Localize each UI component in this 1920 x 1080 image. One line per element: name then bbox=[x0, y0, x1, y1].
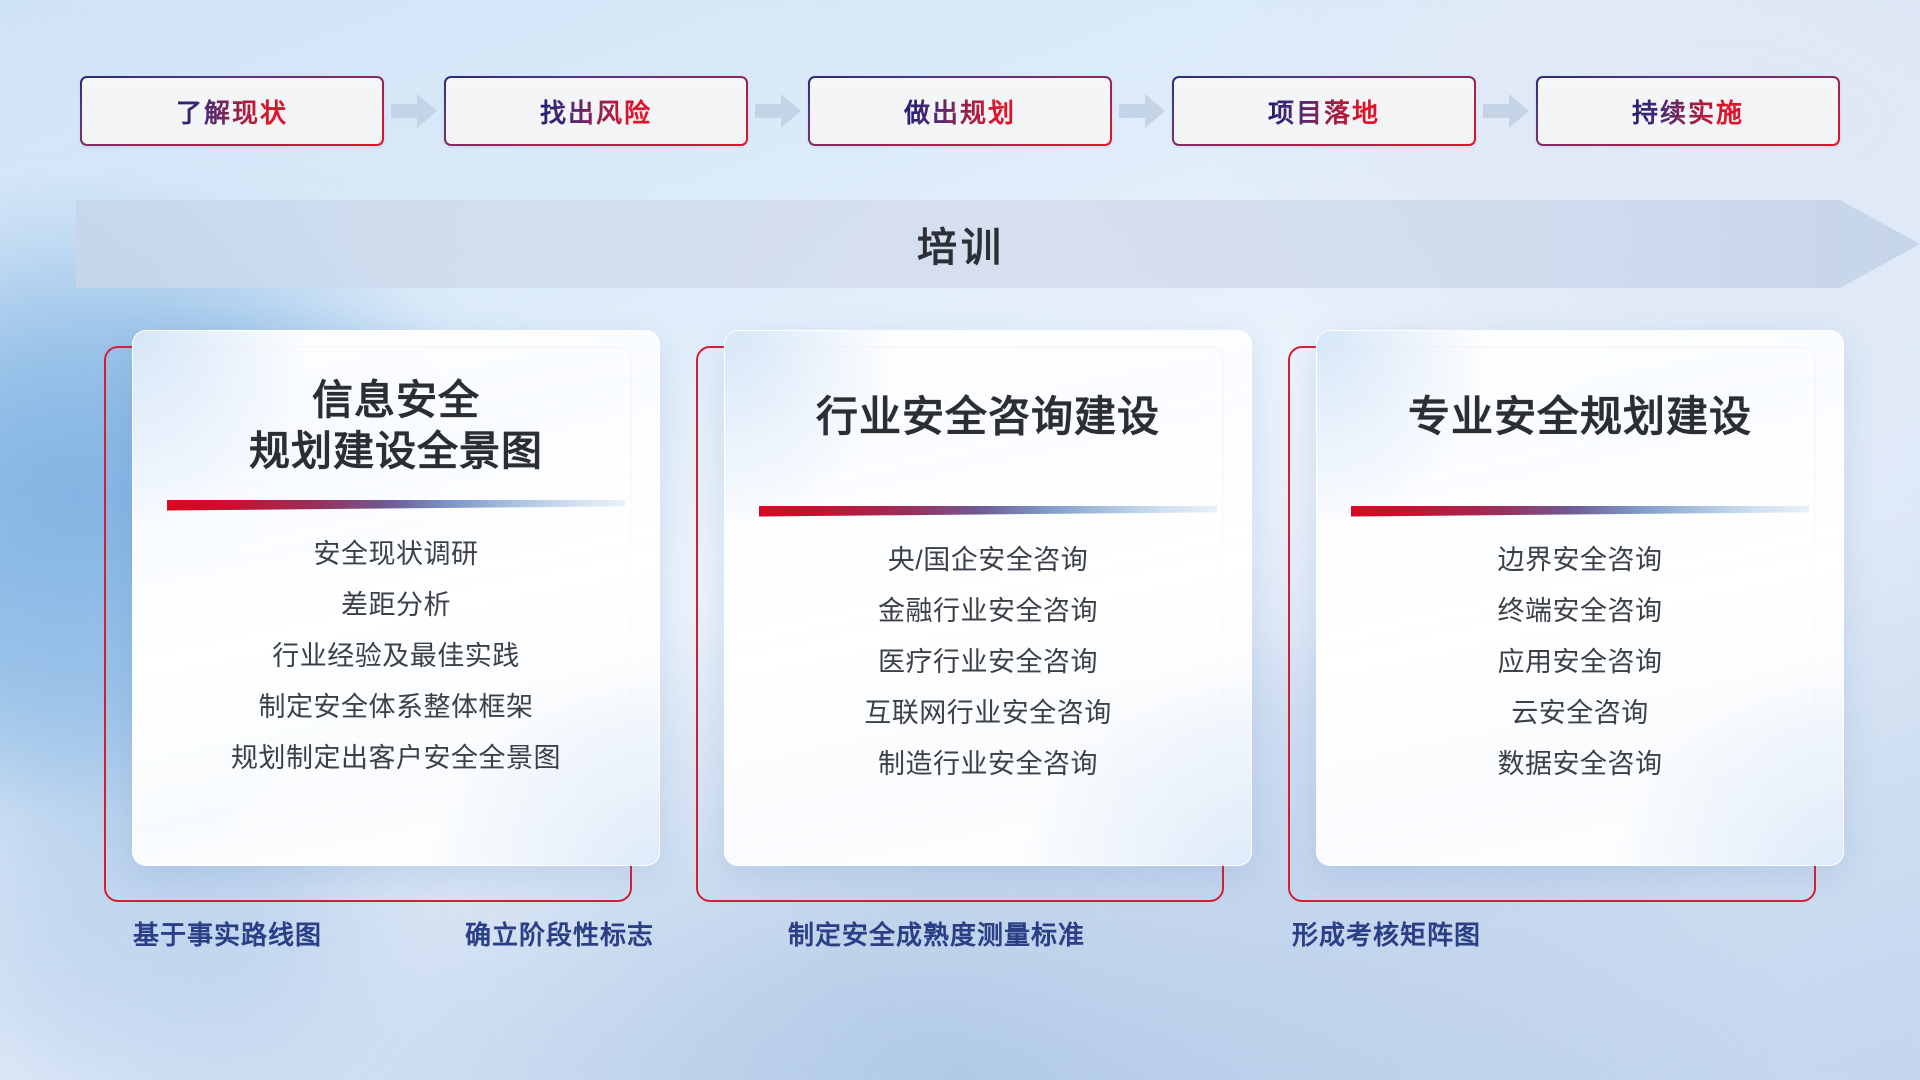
card-group: 信息安全 规划建设全景图 安全现状调研 差距分析 行业经验及最佳实践 制定安全体… bbox=[0, 330, 1920, 890]
card-wrapper-1: 信息安全 规划建设全景图 安全现状调研 差距分析 行业经验及最佳实践 制定安全体… bbox=[104, 330, 632, 890]
card-list-1: 安全现状调研 差距分析 行业经验及最佳实践 制定安全体系整体框架 规划制定出客户… bbox=[231, 541, 561, 772]
list-item: 制定安全体系整体框架 bbox=[259, 694, 534, 721]
card-wrapper-2: 行业安全咨询建设 央/国企安全咨询 金融行业安全咨询 医疗行业安全咨询 互联网行… bbox=[696, 330, 1224, 890]
step-label-4: 项目落地 bbox=[1268, 93, 1380, 130]
bottom-label-1: 基于事实路线图 bbox=[133, 915, 322, 952]
card-list-3: 边界安全咨询 终端安全咨询 应用安全咨询 云安全咨询 数据安全咨询 bbox=[1498, 547, 1663, 778]
banner-label: 培训 bbox=[76, 200, 1846, 288]
list-item: 安全现状调研 bbox=[314, 541, 479, 568]
list-item: 差距分析 bbox=[341, 592, 451, 619]
step-label-1: 了解现状 bbox=[176, 93, 288, 130]
list-item: 制造行业安全咨询 bbox=[878, 751, 1098, 778]
list-item: 规划制定出客户安全全景图 bbox=[231, 745, 561, 772]
step-label-5: 持续实施 bbox=[1632, 93, 1744, 130]
list-item: 行业经验及最佳实践 bbox=[272, 643, 520, 670]
list-item: 边界安全咨询 bbox=[1498, 547, 1663, 574]
card-title-line1: 专业安全规划建设 bbox=[1408, 391, 1752, 444]
list-item: 数据安全咨询 bbox=[1498, 751, 1663, 778]
training-banner: 培训 bbox=[76, 200, 1920, 288]
card-divider-2 bbox=[759, 506, 1217, 517]
right-arrow-icon bbox=[1112, 76, 1172, 146]
step-box-5[interactable]: 持续实施 bbox=[1536, 76, 1840, 146]
card-title-line1: 信息安全 bbox=[249, 375, 543, 426]
background-blob-top-right bbox=[1370, 0, 1920, 360]
card-2[interactable]: 行业安全咨询建设 央/国企安全咨询 金融行业安全咨询 医疗行业安全咨询 互联网行… bbox=[724, 330, 1252, 866]
process-step-flow: 了解现状 找出风险 做出规划 项目落地 持续实施 bbox=[0, 76, 1920, 146]
card-wrapper-3: 专业安全规划建设 边界安全咨询 终端安全咨询 应用安全咨询 云安全咨询 数据安全… bbox=[1288, 330, 1816, 890]
list-item: 互联网行业安全咨询 bbox=[864, 700, 1112, 727]
card-divider-1 bbox=[167, 500, 625, 511]
card-list-2: 央/国企安全咨询 金融行业安全咨询 医疗行业安全咨询 互联网行业安全咨询 制造行… bbox=[864, 547, 1112, 778]
card-1[interactable]: 信息安全 规划建设全景图 安全现状调研 差距分析 行业经验及最佳实践 制定安全体… bbox=[132, 330, 660, 866]
list-item: 央/国企安全咨询 bbox=[888, 547, 1089, 574]
list-item: 云安全咨询 bbox=[1511, 700, 1649, 727]
card-divider-3 bbox=[1351, 506, 1809, 517]
step-box-2[interactable]: 找出风险 bbox=[444, 76, 748, 146]
step-label-2: 找出风险 bbox=[540, 93, 652, 130]
list-item: 金融行业安全咨询 bbox=[878, 598, 1098, 625]
step-label-3: 做出规划 bbox=[904, 93, 1016, 130]
card-title-2: 行业安全咨询建设 bbox=[816, 391, 1160, 444]
list-item: 终端安全咨询 bbox=[1498, 598, 1663, 625]
right-arrow-icon bbox=[1476, 76, 1536, 146]
card-title-3: 专业安全规划建设 bbox=[1408, 391, 1752, 444]
step-box-3[interactable]: 做出规划 bbox=[808, 76, 1112, 146]
bottom-label-row: 基于事实路线图 确立阶段性标志 制定安全成熟度测量标准 形成考核矩阵图 bbox=[0, 915, 1920, 965]
card-title-line2: 规划建设全景图 bbox=[249, 426, 543, 477]
step-box-4[interactable]: 项目落地 bbox=[1172, 76, 1476, 146]
card-title-line1: 行业安全咨询建设 bbox=[816, 391, 1160, 444]
bottom-label-4: 形成考核矩阵图 bbox=[1292, 915, 1481, 952]
bottom-label-3: 制定安全成熟度测量标准 bbox=[788, 915, 1085, 952]
right-arrow-icon bbox=[384, 76, 444, 146]
list-item: 应用安全咨询 bbox=[1498, 649, 1663, 676]
list-item: 医疗行业安全咨询 bbox=[878, 649, 1098, 676]
card-3[interactable]: 专业安全规划建设 边界安全咨询 终端安全咨询 应用安全咨询 云安全咨询 数据安全… bbox=[1316, 330, 1844, 866]
right-arrow-icon bbox=[748, 76, 808, 146]
bottom-label-2: 确立阶段性标志 bbox=[465, 915, 654, 952]
card-title-1: 信息安全 规划建设全景图 bbox=[249, 375, 543, 478]
step-box-1[interactable]: 了解现状 bbox=[80, 76, 384, 146]
